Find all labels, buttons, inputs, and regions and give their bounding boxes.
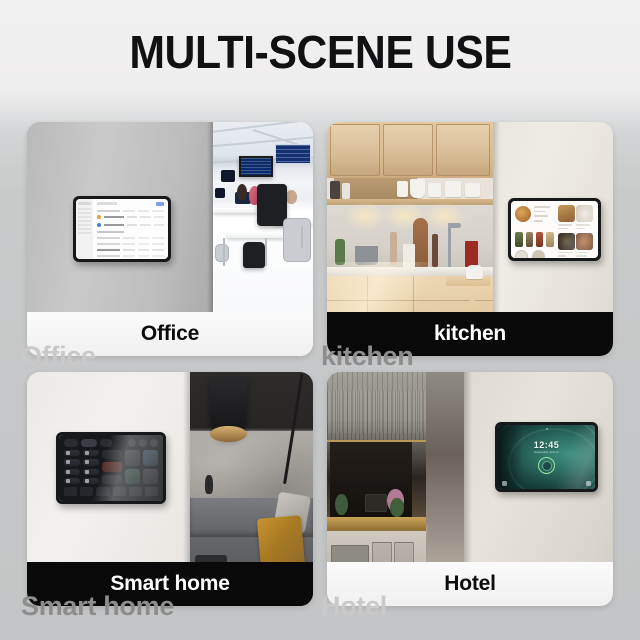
smart-home-tablet-screen[interactable] xyxy=(59,435,163,501)
room-tile[interactable] xyxy=(143,469,158,485)
office-tablet-screen[interactable] xyxy=(76,199,168,259)
scene-card-kitchen[interactable]: kitchen kitchen xyxy=(327,122,613,356)
footer-button[interactable] xyxy=(113,487,126,496)
footer-button[interactable] xyxy=(129,487,142,496)
device-toggle[interactable] xyxy=(64,469,80,475)
smart-home-wall-tablet[interactable] xyxy=(56,432,166,504)
pendant-lamp-ring xyxy=(210,426,247,442)
scene-grid: Office Office xyxy=(27,122,613,618)
control-panel-topbar xyxy=(64,439,158,447)
front-camera xyxy=(546,428,548,430)
hotel-counter-top xyxy=(327,517,426,531)
office-tv xyxy=(239,156,273,177)
device-toggle[interactable] xyxy=(64,450,80,456)
hotel-tablet-screen[interactable]: 12:45 Wednesday, June 12 xyxy=(498,425,595,489)
scene-label-smart-home: Smart home xyxy=(110,572,229,596)
scene-card-kitchen-media: kitchen xyxy=(327,122,613,356)
device-toggle[interactable] xyxy=(83,450,99,456)
room-tile[interactable] xyxy=(143,450,158,466)
scene-card-hotel-media: 12:45 Wednesday, June 12 Hotel xyxy=(327,372,613,606)
kitchen-cutting-board xyxy=(413,218,428,267)
device-toggle[interactable] xyxy=(64,478,80,484)
scene-label-band-office: Office xyxy=(27,312,313,356)
recipe-app xyxy=(511,201,598,258)
scene-label-office: Office xyxy=(141,322,199,346)
kitchen-faucet xyxy=(448,223,451,267)
footer-button[interactable] xyxy=(96,487,109,496)
scene-label-kitchen: kitchen xyxy=(434,322,506,346)
footer-button[interactable] xyxy=(64,487,77,496)
scene-card-smart-home-media: Smart home xyxy=(27,372,313,606)
scene-label-band-smart-home: Smart home xyxy=(27,562,313,606)
page-title: MULTI-SCENE USE xyxy=(129,25,511,79)
scene-card-smart-home[interactable]: Smart home Smart home xyxy=(27,372,313,606)
kitchen-wall-tablet[interactable] xyxy=(508,198,601,261)
smart-home-control-panel[interactable] xyxy=(59,435,163,501)
scene-label-hotel: Hotel xyxy=(444,572,496,596)
scene-tile[interactable] xyxy=(102,475,123,484)
kitchen-upper-cabinets xyxy=(327,122,493,178)
room-tile[interactable] xyxy=(125,450,140,466)
scene-card-hotel[interactable]: 12:45 Wednesday, June 12 Hotel xyxy=(327,372,613,606)
device-toggle[interactable] xyxy=(83,469,99,475)
hotel-lock-screen[interactable]: 12:45 Wednesday, June 12 xyxy=(498,425,595,489)
scene-tile[interactable] xyxy=(102,462,123,471)
lock-screen-clock: 12:45 xyxy=(498,440,595,450)
scene-tiles[interactable] xyxy=(102,450,123,484)
lock-screen-date: Wednesday, June 12 xyxy=(498,451,595,454)
device-toggle[interactable] xyxy=(64,459,80,465)
kitchen-tablet-screen[interactable] xyxy=(511,201,598,258)
control-panel-body xyxy=(64,450,158,484)
office-wall-tablet[interactable] xyxy=(73,196,171,262)
room-tile[interactable] xyxy=(125,469,140,485)
page-header: MULTI-SCENE USE xyxy=(0,0,640,104)
scene-card-office-media: Office xyxy=(27,122,313,356)
hotel-soffit xyxy=(327,391,426,442)
scene-tile[interactable] xyxy=(102,450,123,459)
footer-button[interactable] xyxy=(80,487,93,496)
scene-label-band-hotel: Hotel xyxy=(327,562,613,606)
room-tiles[interactable] xyxy=(125,450,158,484)
camera-shortcut-icon[interactable] xyxy=(502,481,507,486)
device-toggle-grid[interactable] xyxy=(64,450,99,484)
device-toggle[interactable] xyxy=(83,478,99,484)
assistant-shortcut-icon[interactable] xyxy=(586,481,591,486)
scene-card-office[interactable]: Office Office xyxy=(27,122,313,356)
lock-screen-ring-widget[interactable] xyxy=(538,457,555,474)
scene-label-band-kitchen: kitchen xyxy=(327,312,613,356)
control-panel-footer[interactable] xyxy=(64,487,158,496)
footer-button[interactable] xyxy=(145,487,158,496)
hotel-wall-tablet[interactable]: 12:45 Wednesday, June 12 xyxy=(495,422,598,492)
device-toggle[interactable] xyxy=(83,459,99,465)
office-wall-display xyxy=(275,144,311,164)
